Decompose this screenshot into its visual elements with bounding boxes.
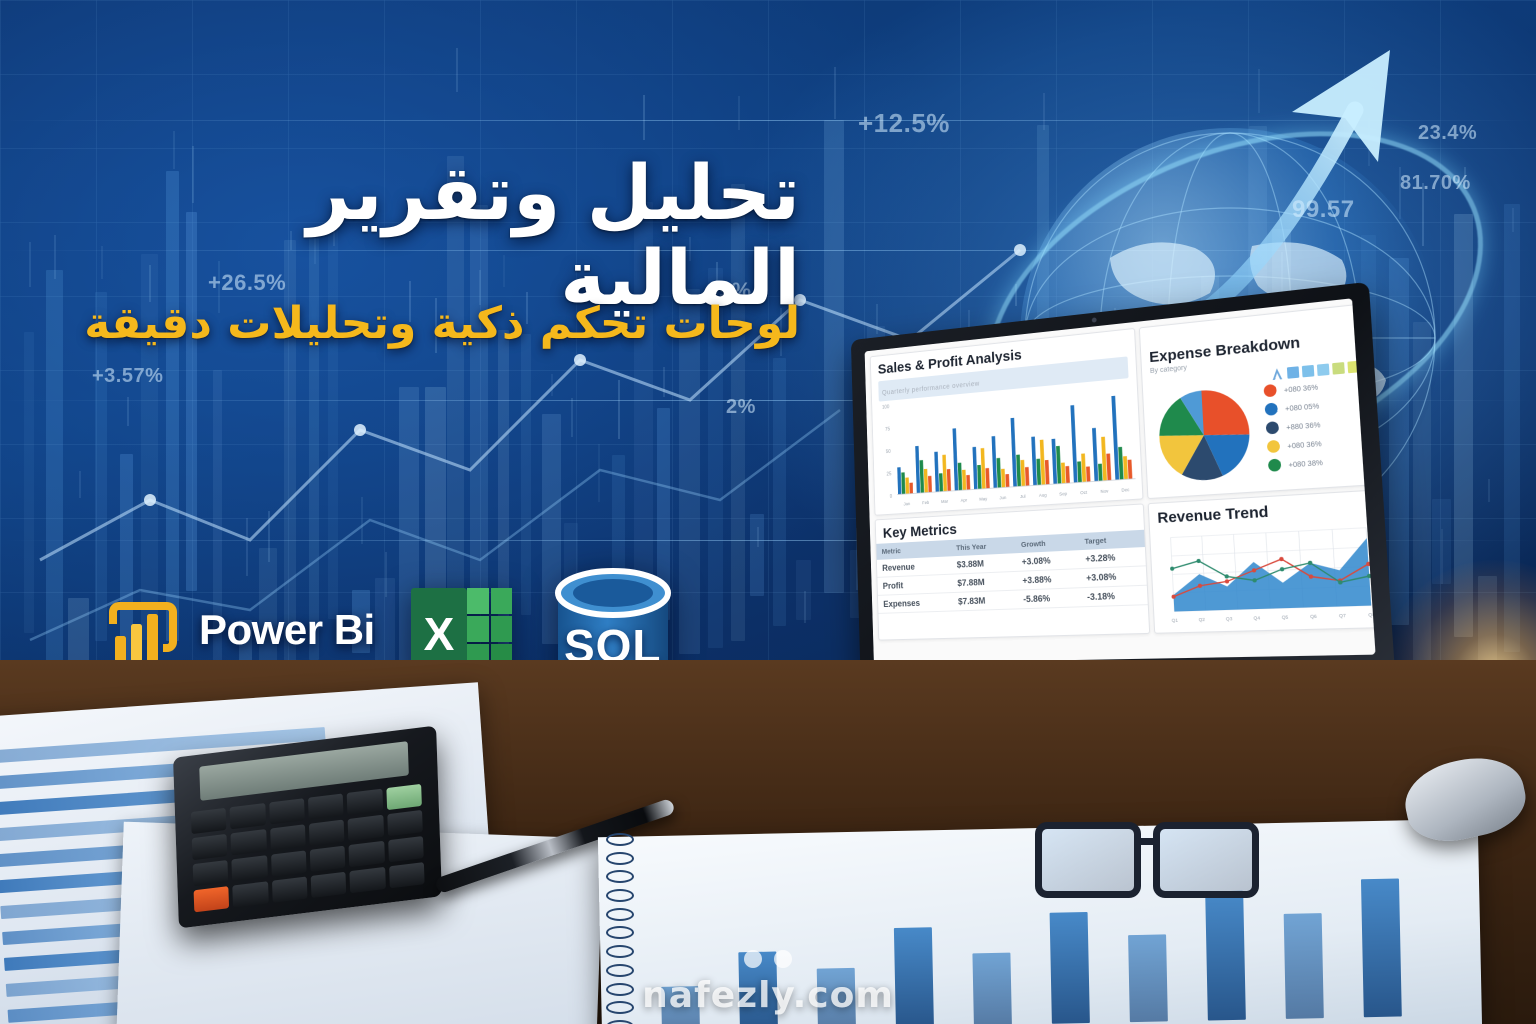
banner-stage: +12.5%+26.5%+3.57%19%2%23.4%81.70%99.57 …: [0, 0, 1536, 1024]
lens-right: [1153, 822, 1259, 898]
background-figure: +3.57%: [92, 365, 163, 388]
calculator-key[interactable]: [231, 829, 267, 855]
svg-text:Apr: Apr: [961, 497, 968, 503]
table-cell: +3.88%: [1016, 569, 1080, 590]
spiral-ring: [606, 833, 634, 846]
area-chart: Q1Q2Q3Q4Q5Q6Q7Q8: [1150, 520, 1375, 627]
palette-swatch[interactable]: [1363, 359, 1376, 372]
svg-text:Mar: Mar: [941, 499, 949, 505]
svg-text:Feb: Feb: [922, 500, 930, 506]
svg-text:+080 36%: +080 36%: [1284, 384, 1319, 395]
spiral-ring: [606, 908, 634, 921]
svg-text:Jul: Jul: [1020, 494, 1026, 500]
calculator-key[interactable]: [387, 810, 423, 836]
svg-text:Oct: Oct: [1080, 490, 1088, 496]
svg-text:Nov: Nov: [1100, 488, 1109, 494]
pie-slice: [1201, 387, 1249, 438]
spiral-ring: [606, 1020, 634, 1024]
logo-power-bi: Power Bi: [105, 590, 375, 670]
webcam-icon: [1092, 317, 1097, 322]
calculator-key[interactable]: [270, 824, 306, 850]
background-figure: 99.57: [1292, 196, 1355, 224]
svg-text:100: 100: [882, 404, 890, 411]
svg-text:+080 38%: +080 38%: [1288, 459, 1323, 469]
table-cell: -3.18%: [1081, 585, 1148, 607]
glasses-bridge: [1134, 838, 1156, 845]
table-cell: $7.88M: [952, 571, 1018, 592]
svg-text:Q2: Q2: [1198, 617, 1205, 623]
table-cell: +3.08%: [1080, 566, 1147, 588]
pie-chart: +080 36%+080 05%+880 36%+080 36%+080 38%: [1143, 364, 1376, 496]
calculator-key[interactable]: [193, 860, 229, 886]
lens-left: [1035, 822, 1141, 898]
svg-text:Q1: Q1: [1172, 617, 1179, 623]
svg-text:Jun: Jun: [999, 495, 1007, 501]
calculator[interactable]: [173, 726, 442, 929]
spiral-ring: [606, 852, 634, 865]
table-cell: Expenses: [878, 593, 953, 614]
key-metrics-table: MetricThis YearGrowthTarget Revenue$3.88…: [876, 530, 1147, 614]
background-figure: 23.4%: [1418, 122, 1477, 145]
svg-text:+080 36%: +080 36%: [1287, 441, 1322, 451]
svg-text:Jan: Jan: [904, 501, 911, 506]
calculator-key[interactable]: [310, 846, 346, 872]
svg-text:25: 25: [887, 471, 892, 477]
bar-chart: 0255075100JanFebMarAprMayJunJulAugSepOct…: [872, 376, 1142, 512]
calculator-key[interactable]: [308, 793, 344, 819]
calculator-key[interactable]: [232, 855, 268, 881]
svg-text:Q4: Q4: [1253, 615, 1260, 621]
watermark-dots: [744, 950, 792, 968]
svg-text:Q3: Q3: [1226, 616, 1233, 622]
calculator-key[interactable]: [191, 808, 227, 834]
laptop-lid: Sales & Profit Analysis Quarterly perfor…: [851, 282, 1396, 685]
calculator-key[interactable]: [194, 886, 230, 912]
calculator-key[interactable]: [311, 872, 347, 898]
svg-text:Q7: Q7: [1339, 613, 1347, 619]
panel-key-metrics[interactable]: Key Metrics MetricThis YearGrowthTarget …: [875, 503, 1150, 640]
spiral-ring: [606, 889, 634, 902]
svg-text:May: May: [979, 496, 988, 502]
panel-expense-breakdown[interactable]: Expense Breakdown By category +080 36%+0…: [1139, 301, 1376, 499]
dashboard: Sales & Profit Analysis Quarterly perfor…: [865, 298, 1376, 663]
svg-text:+080 05%: +080 05%: [1285, 403, 1320, 414]
calculator-key[interactable]: [233, 881, 269, 907]
table-cell: $7.83M: [952, 590, 1018, 611]
calculator-key[interactable]: [388, 836, 424, 862]
table-cell: -5.86%: [1017, 588, 1081, 609]
svg-text:Q8: Q8: [1368, 612, 1375, 618]
svg-text:Q6: Q6: [1310, 613, 1318, 619]
svg-text:Aug: Aug: [1039, 492, 1047, 498]
calculator-key[interactable]: [348, 815, 384, 841]
calculator-key[interactable]: [350, 867, 386, 893]
background-figure: +12.5%: [858, 108, 950, 139]
calculator-key[interactable]: [230, 803, 266, 829]
calculator-keypad[interactable]: [191, 784, 425, 913]
calculator-key[interactable]: [349, 841, 385, 867]
svg-text:X: X: [423, 608, 454, 660]
svg-text:0: 0: [890, 494, 893, 500]
calculator-key[interactable]: [309, 820, 345, 846]
page-title: تحليل وتقرير المالية: [60, 150, 800, 320]
svg-text:Sep: Sep: [1059, 491, 1068, 497]
panel-sales-profit[interactable]: Sales & Profit Analysis Quarterly perfor…: [870, 328, 1144, 516]
spiral-ring: [606, 926, 634, 939]
svg-text:+880 36%: +880 36%: [1286, 422, 1321, 432]
spiral-ring: [606, 870, 634, 883]
power-bi-icon: [105, 590, 185, 670]
panel-revenue-trend[interactable]: Revenue Trend Q1Q2Q3Q4Q5Q6Q7Q8: [1148, 488, 1376, 633]
svg-text:50: 50: [886, 449, 891, 455]
spiral-ring: [606, 945, 634, 958]
svg-text:Dec: Dec: [1121, 487, 1130, 493]
svg-text:Q5: Q5: [1281, 614, 1289, 620]
calculator-key[interactable]: [347, 789, 383, 815]
calculator-key[interactable]: [272, 876, 308, 902]
laptop-screen: Sales & Profit Analysis Quarterly perfor…: [865, 298, 1376, 663]
calculator-key[interactable]: [389, 862, 425, 888]
eyeglasses: [1035, 812, 1250, 904]
watermark: nafezly.com: [0, 975, 1536, 1016]
calculator-key[interactable]: [386, 784, 422, 810]
power-bi-label: Power Bi: [199, 606, 375, 654]
background-figure: 81.70%: [1400, 172, 1471, 195]
calculator-key[interactable]: [271, 850, 307, 876]
calculator-key[interactable]: [269, 798, 305, 824]
svg-text:75: 75: [885, 426, 890, 432]
calculator-key[interactable]: [192, 834, 228, 860]
